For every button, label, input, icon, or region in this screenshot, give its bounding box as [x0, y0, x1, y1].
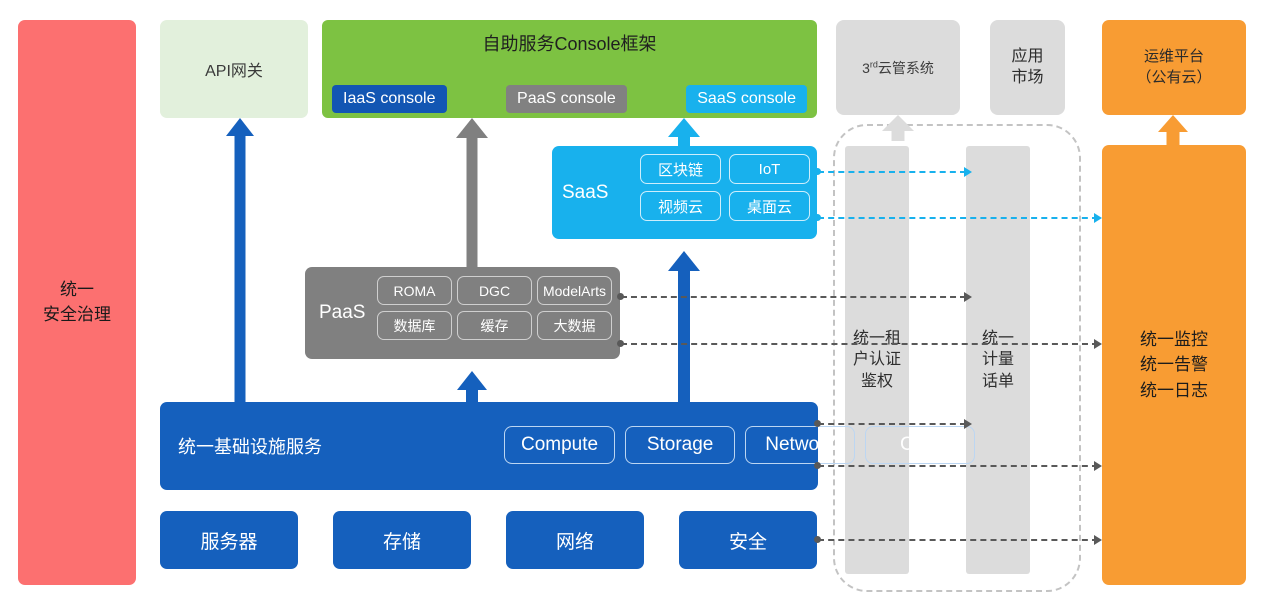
resource-box-storage[interactable]: 存储 — [333, 511, 471, 569]
saas-layer-label: SaaS — [562, 146, 608, 239]
iaas-console-chip[interactable]: IaaS console — [332, 85, 447, 113]
saas-console-chip[interactable]: SaaS console — [686, 85, 807, 113]
api-gateway-label: API网关 — [205, 57, 263, 81]
saas-service-blockchain[interactable]: 区块链 — [640, 154, 721, 184]
connector-resource-to-om — [818, 539, 1098, 541]
paas-service-roma[interactable]: ROMA — [377, 276, 452, 305]
paas-service-cache[interactable]: 缓存 — [457, 311, 532, 340]
connector-paas-to-om — [621, 343, 1098, 345]
saas-service-video-cloud[interactable]: 视频云 — [640, 191, 721, 221]
security-governance-line2: 安全治理 — [43, 303, 111, 328]
om-monitor-line3: 统一日志 — [1140, 378, 1208, 404]
infra-service-compute[interactable]: Compute — [504, 426, 615, 464]
infra-service-storage[interactable]: Storage — [625, 426, 735, 464]
resource-box-security[interactable]: 安全 — [679, 511, 817, 569]
unified-infrastructure-bar: 统一基础设施服务 Compute Storage Network CCE — [160, 402, 818, 490]
self-service-console-framework: 自助服务Console框架 IaaS console PaaS console … — [322, 20, 817, 118]
architecture-diagram: 统一 安全治理 API网关 自助服务Console框架 IaaS console… — [0, 0, 1265, 605]
resource-box-network[interactable]: 网络 — [506, 511, 644, 569]
infrastructure-service-row: Compute Storage Network CCE — [504, 426, 975, 464]
arrow-paas-to-paas-console — [456, 118, 488, 267]
connector-head-paas-auth — [964, 292, 972, 302]
security-governance-line1: 统一 — [43, 278, 111, 303]
connector-head-saas-om — [1094, 213, 1102, 223]
saas-layer-block: SaaS 区块链 IoT 视频云 桌面云 — [552, 146, 817, 239]
app-market-line2: 市场 — [1011, 68, 1043, 89]
om-monitor-line2: 统一告警 — [1140, 352, 1208, 378]
api-gateway-box: API网关 — [160, 20, 308, 118]
resource-box-server[interactable]: 服务器 — [160, 511, 298, 569]
metering-line3: 话单 — [982, 371, 1014, 392]
connector-saas-to-om — [818, 217, 1098, 219]
third-party-cloud-management-label: 3rd云管系统 — [862, 58, 934, 78]
console-chip-row: IaaS console PaaS console SaaS console — [332, 85, 807, 113]
paas-service-database[interactable]: 数据库 — [377, 311, 452, 340]
connector-infra-to-auth — [818, 423, 966, 425]
connector-head-resource-om — [1094, 535, 1102, 545]
tenant-auth-line3: 鉴权 — [853, 371, 901, 392]
om-monitor-line1: 统一监控 — [1140, 327, 1208, 353]
saas-service-desktop-cloud[interactable]: 桌面云 — [729, 191, 810, 221]
paas-service-bigdata[interactable]: 大数据 — [537, 311, 612, 340]
connector-head-infra-om — [1094, 461, 1102, 471]
security-governance-panel: 统一 安全治理 — [18, 20, 136, 585]
paas-service-modelarts[interactable]: ModelArts — [537, 276, 612, 305]
arrow-om-main-to-om-top — [1158, 115, 1188, 146]
paas-console-chip[interactable]: PaaS console — [506, 85, 627, 113]
unified-metering-column: 统一 计量 话单 — [966, 146, 1030, 574]
arrow-infra-to-api-gateway — [226, 118, 254, 402]
app-market-line1: 应用 — [1011, 47, 1043, 68]
saas-service-grid: 区块链 IoT 视频云 桌面云 — [640, 154, 810, 221]
paas-service-grid: ROMA DGC ModelArts 数据库 缓存 大数据 — [377, 276, 612, 340]
connector-infra-to-om — [818, 465, 1098, 467]
om-platform-line2: （公有云） — [1136, 68, 1211, 88]
om-platform-line1: 运维平台 — [1136, 47, 1211, 67]
saas-service-iot[interactable]: IoT — [729, 154, 810, 184]
arrow-infra-to-paas — [457, 371, 487, 402]
infra-service-cce[interactable]: CCE — [865, 426, 975, 464]
connector-head-saas-metering — [964, 167, 972, 177]
arrow-saas-to-saas-console — [668, 118, 700, 146]
paas-layer-label: PaaS — [319, 267, 365, 359]
paas-service-dgc[interactable]: DGC — [457, 276, 532, 305]
tenant-auth-line2: 户认证 — [853, 349, 901, 370]
connector-head-paas-om — [1094, 339, 1102, 349]
connector-head-infra-auth — [964, 419, 972, 429]
unified-tenant-auth-column: 统一租 户认证 鉴权 — [845, 146, 909, 574]
metering-line2: 计量 — [982, 349, 1014, 370]
console-framework-title: 自助服务Console框架 — [322, 30, 817, 56]
tenant-auth-line1: 统一租 — [853, 328, 901, 349]
om-platform-public-cloud-box: 运维平台 （公有云） — [1102, 20, 1246, 115]
app-market-box: 应用 市场 — [990, 20, 1065, 115]
paas-layer-block: PaaS ROMA DGC ModelArts 数据库 缓存 大数据 — [305, 267, 620, 359]
arrow-infra-to-saas — [668, 251, 700, 402]
connector-paas-to-auth — [621, 296, 966, 298]
unified-infrastructure-label: 统一基础设施服务 — [178, 402, 322, 490]
infra-service-network[interactable]: Network — [745, 426, 855, 464]
connector-saas-to-metering — [818, 171, 966, 173]
metering-line1: 统一 — [982, 328, 1014, 349]
om-monitoring-panel: 统一监控 统一告警 统一日志 — [1102, 145, 1246, 585]
arrow-shared-to-third-party-cloud — [882, 115, 914, 141]
third-party-cloud-management-box: 3rd云管系统 — [836, 20, 960, 115]
